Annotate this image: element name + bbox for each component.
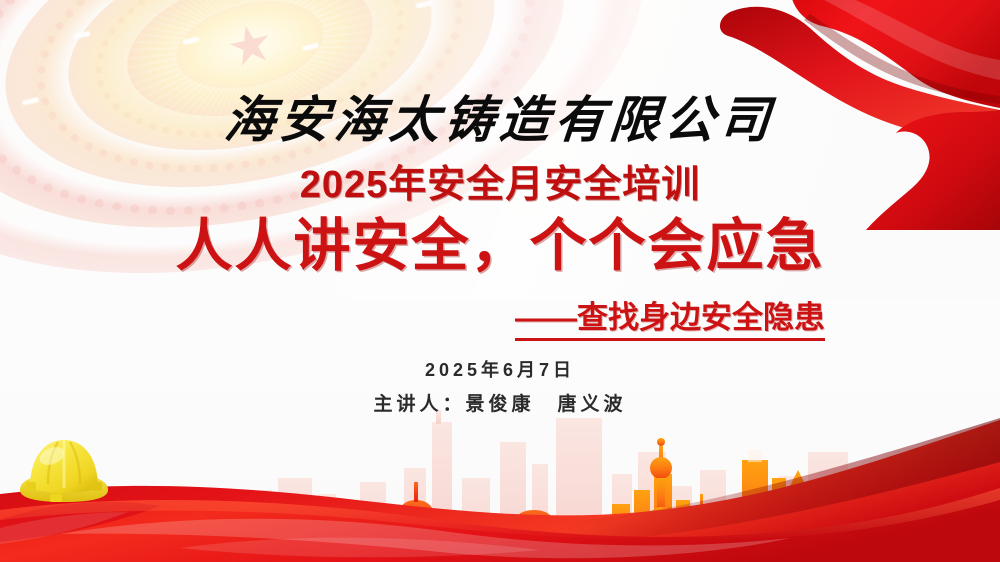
- company-name: 海安海太铸造有限公司: [0, 80, 1000, 152]
- presentation-date: 2025年6月7日: [0, 356, 1000, 382]
- title-slide: 海安海太铸造有限公司 2025年安全月安全培训 人人讲安全，个个会应急 ——查找…: [0, 0, 1000, 562]
- slogan-sub: ——查找身边安全隐患: [515, 292, 825, 341]
- slide-content: 海安海太铸造有限公司 2025年安全月安全培训 人人讲安全，个个会应急 ——查找…: [0, 0, 1000, 562]
- meta-block: 2025年6月7日 主讲人：景俊康 唐义波: [0, 356, 1000, 416]
- presenter-names: 主讲人：景俊康 唐义波: [0, 389, 1000, 416]
- slogan-main: 人人讲安全，个个会应急: [0, 200, 1000, 282]
